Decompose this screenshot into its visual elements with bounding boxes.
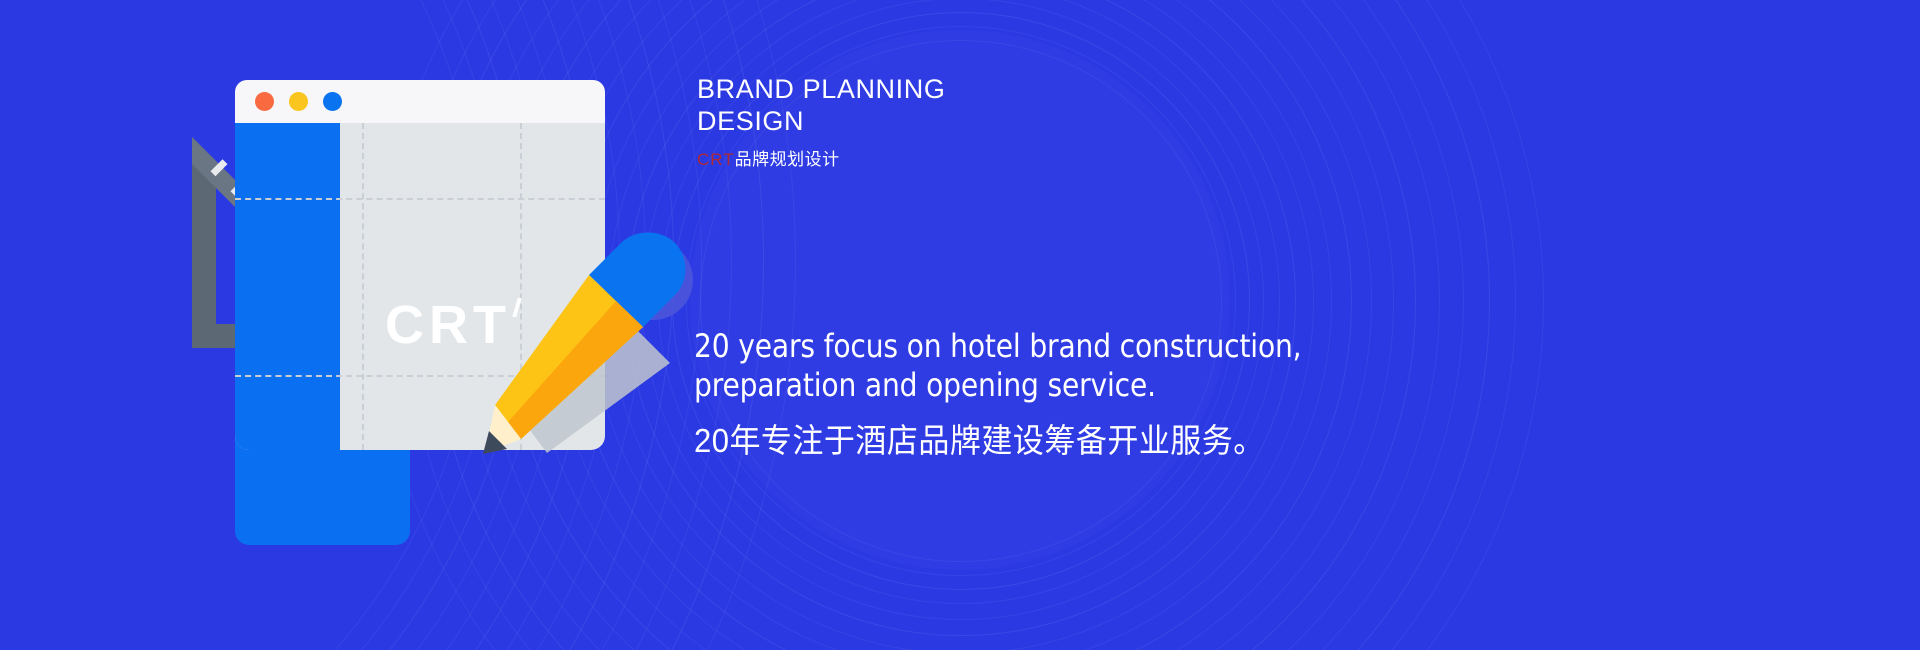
subtitle: CRT品牌规划设计 bbox=[697, 145, 945, 170]
canvas-blue-column bbox=[235, 123, 340, 450]
window-maximize-dot-icon[interactable] bbox=[323, 92, 342, 111]
tagline-chinese: 20年专注于酒店品牌建设筹备开业服务。 bbox=[694, 421, 1352, 461]
pencil-icon bbox=[475, 225, 690, 455]
window-close-dot-icon[interactable] bbox=[255, 92, 274, 111]
brand-name: CRT bbox=[697, 150, 735, 169]
tagline-english: 20 years focus on hotel brand constructi… bbox=[694, 327, 1310, 405]
subtitle-chinese: 品牌规划设计 bbox=[735, 150, 840, 169]
page-title: BRAND PLANNING DESIGN bbox=[697, 73, 945, 137]
window-minimize-dot-icon[interactable] bbox=[289, 92, 308, 111]
brand-design-illustration: CRT bbox=[190, 80, 690, 550]
hero-banner: CRT BRAND bbox=[0, 0, 1920, 650]
guide-line-horizontal bbox=[235, 198, 605, 200]
window-titlebar bbox=[235, 80, 605, 123]
tagline-block: 20 years focus on hotel brand constructi… bbox=[694, 327, 1394, 461]
guide-line-vertical bbox=[362, 123, 364, 450]
headline-block: BRAND PLANNING DESIGN CRT品牌规划设计 bbox=[697, 73, 945, 170]
